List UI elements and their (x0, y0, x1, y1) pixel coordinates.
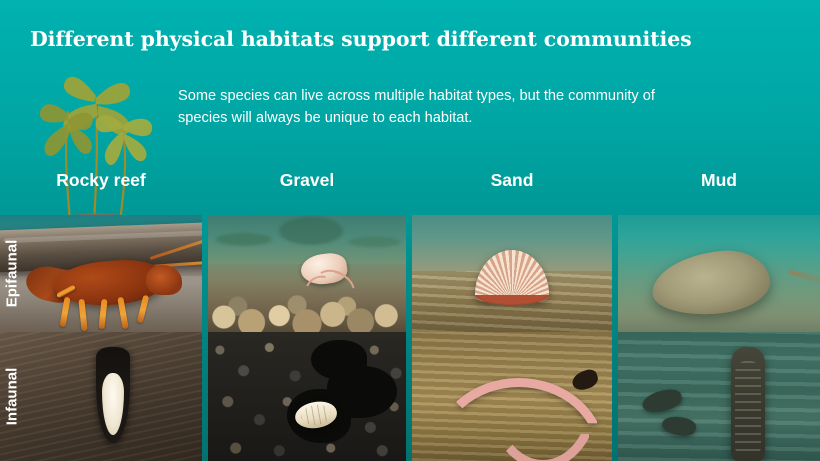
cell-rocky-reef-infaunal (0, 332, 202, 461)
cell-mud-epifaunal (618, 215, 820, 332)
cell-sand-epifaunal (412, 215, 612, 332)
cell-sand-infaunal (412, 332, 612, 461)
column-header-rocky-reef: Rocky reef (0, 170, 202, 191)
page-subtitle: Some species can live across multiple ha… (178, 85, 678, 129)
cell-gravel-infaunal (208, 332, 406, 461)
kelp-illustration (24, 62, 164, 222)
column-header-sand: Sand (412, 170, 612, 191)
column-header-mud: Mud (618, 170, 820, 191)
cell-mud-infaunal (618, 332, 820, 461)
cell-gravel-epifaunal (208, 215, 406, 332)
cell-rocky-reef-epifaunal (0, 215, 202, 332)
column-header-gravel: Gravel (208, 170, 406, 191)
page-title: Different physical habitats support diff… (30, 27, 692, 51)
infographic-canvas: Different physical habitats support diff… (0, 0, 820, 461)
